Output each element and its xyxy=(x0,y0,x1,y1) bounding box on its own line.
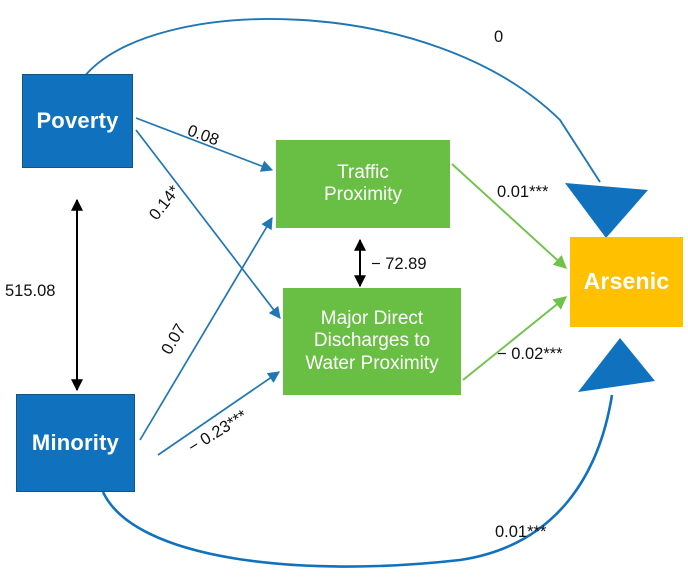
label-traffic-discharges-covariance: − 72.89 xyxy=(371,256,427,273)
node-arsenic[interactable]: Arsenic xyxy=(570,237,683,327)
label-traffic-to-arsenic: 0.01*** xyxy=(497,184,548,201)
arrowhead-minority-to-arsenic xyxy=(578,338,655,392)
node-minority-label: Minority xyxy=(32,430,119,456)
node-traffic-proximity[interactable]: Traffic Proximity xyxy=(276,140,450,228)
node-traffic-proximity-line1: Traffic xyxy=(337,162,389,183)
edge-discharges-to-arsenic xyxy=(463,297,566,380)
edge-poverty-to-discharges xyxy=(136,130,280,318)
label-discharges-to-arsenic: − 0.02*** xyxy=(497,346,563,363)
node-discharges-line2: Discharges to xyxy=(314,330,430,351)
label-poverty-minority-covariance: 515.08 xyxy=(5,283,55,300)
label-minority-to-arsenic: 0.01*** xyxy=(495,524,546,541)
node-major-direct-discharges-label: Major Direct Discharges to Water Proximi… xyxy=(305,308,438,375)
arrowhead-poverty-to-arsenic xyxy=(565,183,648,238)
node-minority[interactable]: Minority xyxy=(16,394,135,492)
edge-traffic-to-arsenic xyxy=(452,164,566,268)
path-diagram: Poverty Minority Traffic Proximity Major… xyxy=(0,0,688,580)
edge-minority-to-discharges xyxy=(158,372,279,455)
label-poverty-to-arsenic: 0 xyxy=(494,29,503,46)
node-traffic-proximity-label: Traffic Proximity xyxy=(324,162,402,207)
node-traffic-proximity-line2: Proximity xyxy=(324,184,402,205)
node-discharges-line3: Water Proximity xyxy=(305,353,438,374)
edge-minority-to-traffic xyxy=(140,218,272,440)
node-discharges-line1: Major Direct xyxy=(321,308,423,329)
node-poverty[interactable]: Poverty xyxy=(22,74,133,168)
node-poverty-label: Poverty xyxy=(36,108,118,134)
node-major-direct-discharges[interactable]: Major Direct Discharges to Water Proximi… xyxy=(283,288,461,395)
node-arsenic-label: Arsenic xyxy=(584,268,670,295)
